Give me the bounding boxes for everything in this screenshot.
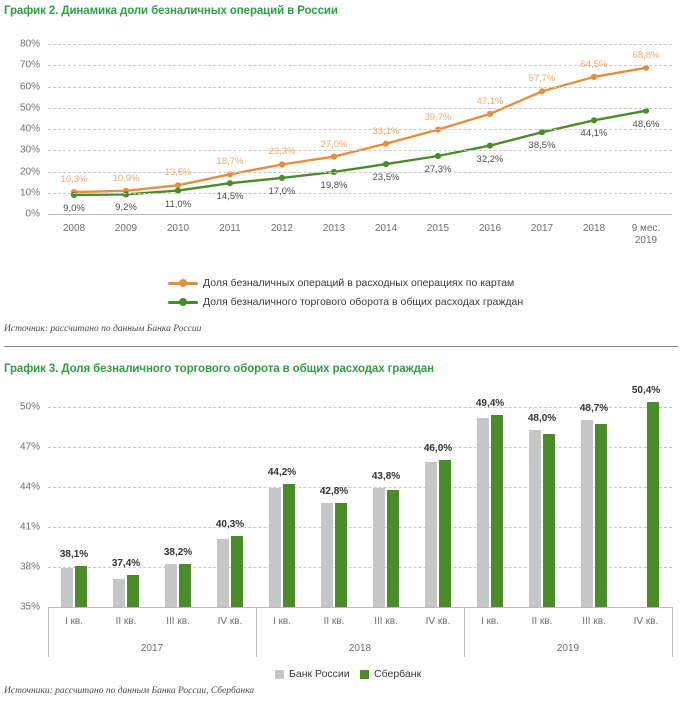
chart2-gridline (48, 172, 672, 173)
chart2-x-tick-label: 2013 (323, 223, 345, 235)
chart2-data-label: 23,3% (269, 146, 296, 157)
line-swatch-icon (168, 282, 198, 285)
chart3-gridline (48, 527, 672, 528)
chart2-gridline (48, 65, 672, 66)
chart2-gridline (48, 214, 672, 215)
chart2-x-tick-label: 2009 (115, 223, 137, 235)
chart3-x-tick-label: II кв. (324, 616, 345, 628)
chart2-data-label: 19,8% (321, 180, 348, 191)
chart2-legend-item-orange: Доля безналичных операций в расходных оп… (168, 277, 514, 289)
chart3-x-tick-label: IV кв. (634, 616, 659, 628)
chart3-y-tick-label: 50% (4, 402, 40, 413)
chart3-gridline (48, 567, 672, 568)
chart3-group-separator (464, 607, 465, 657)
chart2-data-label: 48,6% (633, 119, 660, 130)
chart3-legend-item-bank: Банк России (275, 668, 350, 680)
chart3-group-label: 2019 (557, 643, 579, 654)
chart2-x-tick-label: 2014 (375, 223, 397, 235)
chart2-y-tick-label: 40% (4, 124, 40, 135)
chart3-gridline (48, 407, 672, 408)
chart3-x-tick-label: I кв. (65, 616, 83, 628)
chart3-legend-item-sber: Сбербанк (360, 668, 421, 680)
chart2-data-label: 23,5% (373, 172, 400, 183)
chart2-x-tick-label: 2008 (63, 223, 85, 235)
chart2-data-label: 14,5% (217, 191, 244, 202)
chart2-data-point (435, 153, 441, 159)
chart3-x-tick-label: I кв. (481, 616, 499, 628)
chart2-source-note: Источник: рассчитано по данным Банка Рос… (4, 324, 201, 334)
section-divider (4, 346, 678, 347)
chart2-x-tick-label: 2012 (271, 223, 293, 235)
chart2-data-point (227, 180, 233, 186)
chart2-gridline (48, 150, 672, 151)
chart2-data-label: 57,7% (529, 73, 556, 84)
chart2-y-tick-label: 20% (4, 166, 40, 177)
chart2-data-label: 64,5% (581, 59, 608, 70)
chart3-group-label: 2017 (141, 643, 163, 654)
chart3-data-label: 50,4% (632, 385, 660, 703)
chart2-data-point (175, 182, 181, 188)
chart3-legend-label-bank: Банк России (289, 668, 350, 680)
chart3-group-separator (48, 607, 49, 657)
line-swatch-icon (168, 301, 198, 304)
chart3-x-tick-label: II кв. (116, 616, 137, 628)
chart2-y-tick-label: 30% (4, 145, 40, 156)
chart2-y-tick-label: 10% (4, 187, 40, 198)
chart2-data-label: 44,1% (581, 128, 608, 139)
chart2-data-label: 17,0% (269, 186, 296, 197)
chart2-data-label: 10,3% (61, 174, 88, 185)
chart2-legend-label-orange: Доля безналичных операций в расходных оп… (203, 277, 514, 289)
chart2-gridline (48, 87, 672, 88)
chart2-x-tick-label: 2015 (427, 223, 449, 235)
chart2-data-point (487, 143, 493, 149)
chart2-data-label: 68,8% (633, 50, 660, 61)
chart3-gridline (48, 487, 672, 488)
chart3-x-tick-label: IV кв. (426, 616, 451, 628)
chart3-source-note: Источники: рассчитано по данным Банка Ро… (4, 686, 254, 696)
chart2-x-tick-label: 2011 (219, 223, 241, 235)
chart3-data-label: 49,4% (476, 398, 504, 703)
chart3-x-tick-label: III кв. (582, 616, 606, 628)
chart2-data-point (487, 111, 493, 117)
chart3-x-tick-label: I кв. (273, 616, 291, 628)
chart2-data-point (383, 161, 389, 167)
chart2-data-label: 33,1% (373, 126, 400, 137)
chart2-data-label: 32,2% (477, 154, 504, 165)
chart2-data-point (383, 141, 389, 147)
chart3-plot-area (48, 407, 672, 607)
chart3-title: График 3. Доля безналичного торгового об… (4, 363, 434, 375)
chart3-gridline (48, 447, 672, 448)
chart3-x-tick-label: IV кв. (218, 616, 243, 628)
chart2-y-tick-label: 50% (4, 102, 40, 113)
chart3-y-tick-label: 38% (4, 562, 40, 573)
chart2-title: График 2. Динамика доли безналичных опер… (4, 5, 338, 17)
chart2-data-label: 18,7% (217, 156, 244, 167)
chart2-x-tick-label: 2018 (583, 223, 605, 235)
chart3-y-tick-label: 44% (4, 482, 40, 493)
chart2-y-tick-label: 0% (4, 209, 40, 220)
chart2-data-label: 9,0% (63, 203, 85, 214)
chart3-x-tick-label: II кв. (532, 616, 553, 628)
chart3-data-label: 40,3% (216, 519, 244, 703)
bar-swatch-icon (275, 670, 284, 679)
chart2-gridline (48, 44, 672, 45)
chart2-gridline (48, 129, 672, 130)
chart2-data-label: 27,3% (425, 164, 452, 175)
chart2-data-point (279, 161, 285, 167)
chart3-legend-label-sber: Сбербанк (374, 668, 421, 680)
report-page: График 2. Динамика доли безналичных опер… (0, 0, 682, 703)
chart2-x-tick-label: 2016 (479, 223, 501, 235)
chart2-y-tick-label: 70% (4, 60, 40, 71)
chart3-data-label: 48,7% (580, 403, 608, 703)
chart3-y-tick-label: 47% (4, 442, 40, 453)
chart2-data-point (591, 117, 597, 123)
chart2-series-line (74, 111, 646, 195)
chart2-gridline (48, 193, 672, 194)
chart3-group-separator (256, 607, 257, 657)
chart2-legend-item-green: Доля безналичного торгового оборота в об… (168, 296, 523, 308)
chart2-gridline (48, 108, 672, 109)
chart3-data-label: 46,0% (424, 443, 452, 703)
chart2-y-tick-label: 60% (4, 81, 40, 92)
chart2-data-point (279, 175, 285, 181)
chart2-y-tick-label: 80% (4, 39, 40, 50)
chart2-data-label: 38,5% (529, 140, 556, 151)
chart2-legend-label-green: Доля безналичного торгового оборота в об… (203, 296, 523, 308)
chart3-y-tick-label: 41% (4, 522, 40, 533)
chart3-group-label: 2018 (349, 643, 371, 654)
chart2-data-label: 39,7% (425, 112, 452, 123)
chart2-data-label: 10,9% (113, 173, 140, 184)
bar-swatch-icon (360, 670, 369, 679)
chart2-x-tick-label: 2010 (167, 223, 189, 235)
chart2-data-label: 9,2% (115, 202, 137, 213)
chart2-data-label: 11,0% (165, 199, 191, 210)
chart2-data-point (539, 129, 545, 135)
chart3-gridline (48, 607, 672, 608)
chart2-data-label: 47,1% (477, 96, 504, 107)
chart3-x-tick-label: III кв. (374, 616, 398, 628)
chart3-x-tick-label: III кв. (166, 616, 190, 628)
chart3-data-label: 48,0% (528, 413, 556, 703)
chart2-data-point (539, 88, 545, 94)
chart3-y-tick-label: 35% (4, 602, 40, 613)
chart2-x-tick-label: 2017 (531, 223, 553, 235)
chart2-data-point (591, 74, 597, 80)
chart2-data-label: 27,0% (321, 139, 348, 150)
chart2-data-point (331, 154, 337, 160)
chart2-data-label: 13,5% (165, 167, 192, 178)
chart3-data-label: 37,4% (112, 558, 140, 703)
chart2-x-tick-label: 9 мес.2019 (632, 223, 661, 247)
chart3-group-separator (672, 607, 673, 657)
